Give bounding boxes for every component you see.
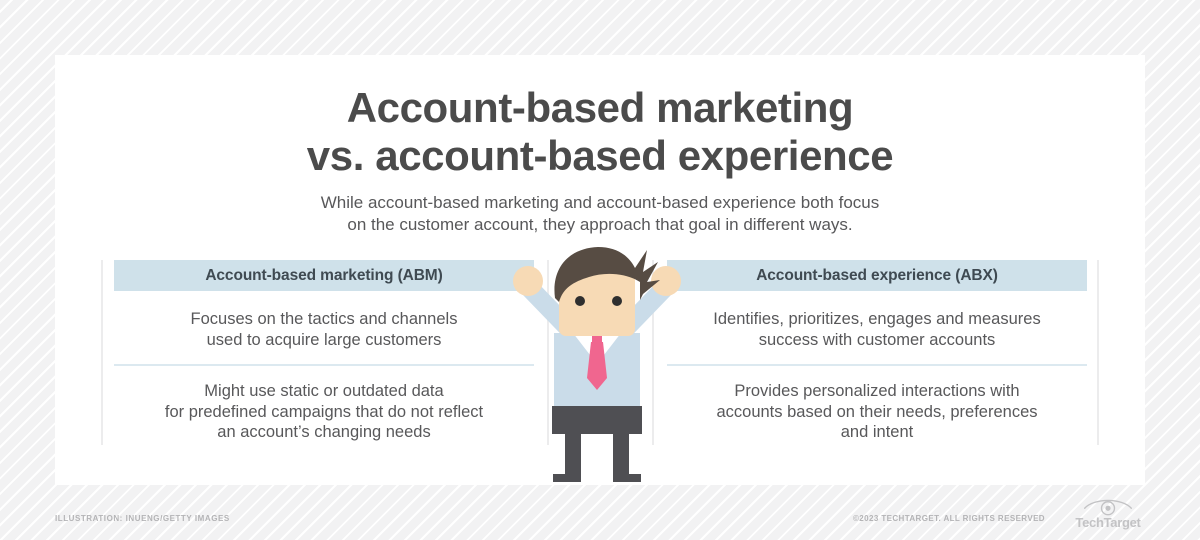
- column-abm: Account-based marketing (ABM) Focuses on…: [114, 260, 534, 443]
- page-subtitle: While account-based marketing and accoun…: [55, 192, 1145, 236]
- point-line: Provides personalized interactions with: [669, 381, 1085, 402]
- pants-and-legs: [552, 406, 642, 482]
- point-line: for predefined campaigns that do not ref…: [116, 402, 532, 423]
- right-eye: [612, 296, 622, 306]
- right-foot: [613, 474, 641, 482]
- page-background: Account-based marketing vs. account-base…: [0, 0, 1200, 540]
- column-abx-point-2: Provides personalized interactions with …: [667, 366, 1087, 443]
- column-abx-body: Identifies, prioritizes, engages and mea…: [667, 291, 1087, 443]
- point-line: and intent: [669, 422, 1085, 443]
- column-abm-body: Focuses on the tactics and channels used…: [114, 291, 534, 443]
- point-line: Might use static or outdated data: [116, 381, 532, 402]
- column-divider-left-outer: [101, 260, 103, 445]
- column-abm-point-2: Might use static or outdated data for pr…: [114, 366, 534, 443]
- techtarget-wordmark: TechTarget: [1056, 515, 1160, 530]
- copyright-notice: ©2023 TECHTARGET. ALL RIGHTS RESERVED: [853, 514, 1045, 523]
- left-foot: [553, 474, 581, 482]
- point-line: Focuses on the tactics and channels: [116, 309, 532, 330]
- eye-icon: [1082, 497, 1134, 516]
- subtitle-line-1: While account-based marketing and accoun…: [321, 193, 880, 212]
- column-abx-point-1: Identifies, prioritizes, engages and mea…: [667, 291, 1087, 364]
- shirt: [554, 330, 640, 406]
- subtitle-line-2: on the customer account, they approach t…: [55, 214, 1145, 236]
- left-hand: [513, 266, 543, 296]
- point-line: Identifies, prioritizes, engages and mea…: [669, 309, 1085, 330]
- column-divider-right-outer: [1097, 260, 1099, 445]
- point-line: an account’s changing needs: [116, 422, 532, 443]
- point-line: success with customer accounts: [669, 330, 1085, 351]
- column-abx: Account-based experience (ABX) Identifie…: [667, 260, 1087, 443]
- businessman-illustration: [497, 238, 697, 490]
- title-line-1: Account-based marketing: [347, 84, 854, 131]
- page-title: Account-based marketing vs. account-base…: [55, 84, 1145, 180]
- column-abm-point-1: Focuses on the tactics and channels used…: [114, 291, 534, 364]
- point-line: used to acquire large customers: [116, 330, 532, 351]
- column-abx-heading: Account-based experience (ABX): [667, 260, 1087, 291]
- title-line-2: vs. account-based experience: [55, 132, 1145, 180]
- illustration-credit: ILLUSTRATION: INUENG/GETTY IMAGES: [55, 514, 230, 523]
- point-line: accounts based on their needs, preferenc…: [669, 402, 1085, 423]
- column-abm-heading: Account-based marketing (ABM): [114, 260, 534, 291]
- techtarget-logo: TechTarget: [1056, 497, 1160, 535]
- left-eye: [575, 296, 585, 306]
